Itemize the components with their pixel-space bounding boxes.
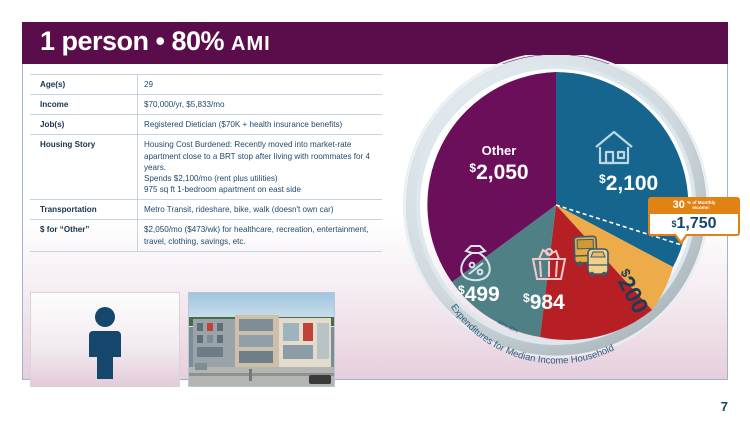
profile-table-body: Age(s) 29 Income $70,000/yr, $5,833/mo J… <box>30 75 382 252</box>
food-amount-label: $984 <box>523 291 565 314</box>
table-row: Transportation Metro Transit, rideshare,… <box>30 200 382 220</box>
taxes-amount-label: $499 <box>458 283 500 306</box>
person-illustration-panel <box>30 292 180 387</box>
callout-band: 30 % of Monthly Income: <box>648 197 740 214</box>
table-row: Income $70,000/yr, $5,833/mo <box>30 95 382 115</box>
page-title-ami: AMI <box>231 33 271 55</box>
thirty-percent-callout[interactable]: 30 % of Monthly Income: $1,750 <box>648 197 740 242</box>
apartment-building-photo <box>188 292 335 387</box>
callout-amount: $1,750 <box>648 214 740 236</box>
callout-tail-inner <box>676 234 686 241</box>
row-value-jobs: Registered Dietician ($70K + health insu… <box>138 115 383 135</box>
row-value-ages: 29 <box>138 75 383 95</box>
callout-caption-line2: Income: <box>692 205 710 210</box>
row-value-income: $70,000/yr, $5,833/mo <box>138 95 383 115</box>
callout-percent: 30 <box>673 200 685 211</box>
other-slice-name: Other <box>482 143 517 158</box>
housing-amount-label: $2,100 <box>599 172 658 195</box>
callout-caption: % of Monthly Income: <box>687 201 716 211</box>
row-label-income: Income <box>30 95 138 115</box>
other-amount-value: 2,050 <box>476 161 529 184</box>
row-value-housing-story: Housing Cost Burdened: Recently moved in… <box>138 135 383 200</box>
taxes-amount-value: 499 <box>465 283 500 306</box>
table-row: Housing Story Housing Cost Burdened: Rec… <box>30 135 382 200</box>
row-label-transportation: Transportation <box>30 200 138 220</box>
table-row: $ for “Other” $2,050/mo ($473/wk) for he… <box>30 220 382 251</box>
row-label-ages: Age(s) <box>30 75 138 95</box>
page-title-main: 1 person • 80% <box>40 26 224 56</box>
row-value-transportation: Metro Transit, rideshare, bike, walk (do… <box>138 200 383 220</box>
row-value-other: $2,050/mo ($473/wk) for healthcare, recr… <box>138 220 383 251</box>
person-silhouette-icon <box>79 305 131 381</box>
slide: 1 person • 80% AMI Age(s) 29 Income $70,… <box>0 0 750 422</box>
row-label-jobs: Job(s) <box>30 115 138 135</box>
callout-amount-value: 1,750 <box>676 215 716 233</box>
profile-table: Age(s) 29 Income $70,000/yr, $5,833/mo J… <box>30 74 382 252</box>
table-row: Job(s) Registered Dietician ($70K + heal… <box>30 115 382 135</box>
row-label-housing-story: Housing Story <box>30 135 138 200</box>
table-row: Age(s) 29 <box>30 75 382 95</box>
food-amount-value: 984 <box>530 291 565 314</box>
building-photo-svg <box>189 293 335 387</box>
page-title: 1 person • 80% AMI <box>40 26 271 57</box>
other-amount-label: $2,050 <box>469 161 528 184</box>
page-number: 7 <box>721 399 728 414</box>
housing-amount-value: 2,100 <box>606 172 659 195</box>
row-label-other: $ for “Other” <box>30 220 138 251</box>
